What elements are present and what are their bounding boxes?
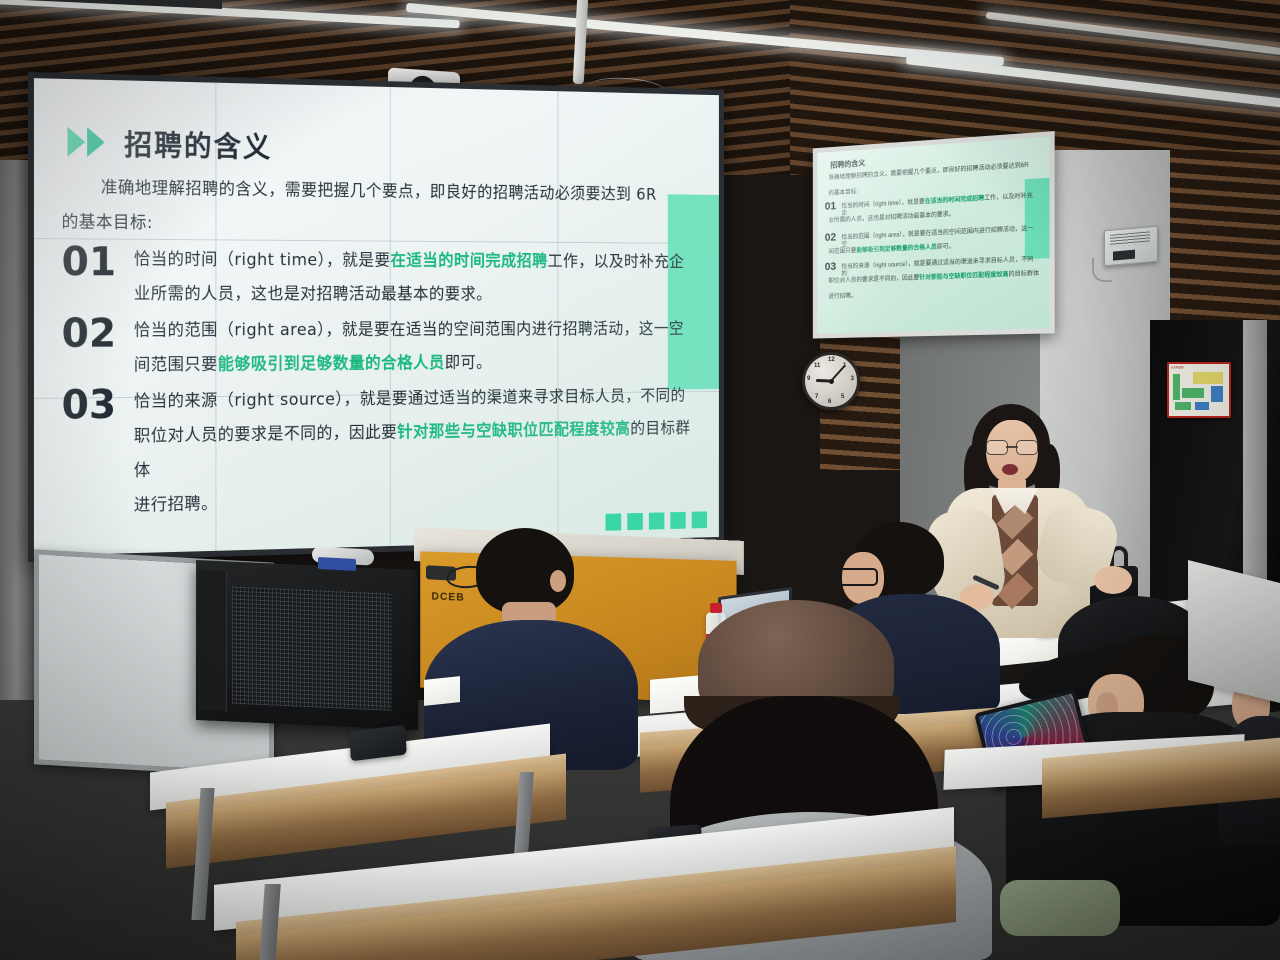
item-03-line2: 职位对人员的要求是不同的，因此要针对那些与空缺职位匹配程度较高的目标群体 <box>134 419 691 481</box>
evacuation-map-poster: 安全疏散图 <box>1167 362 1231 418</box>
secondary-monitor-screen: 招聘的含义 准确地理解招聘的含义，需要把握几个要点，即良好的招聘活动必须要达到6… <box>817 137 1049 334</box>
classroom-photo-scene: 招聘的含义 准确地理解招聘的含义，需要把握几个要点，即良好的招聘活动必须要达到 … <box>0 0 1280 960</box>
item-03-line1: 恰当的来源（right source），就是要通过适当的渠道来寻求目标人员，不同… <box>134 380 702 420</box>
glasses-icon <box>986 440 1038 453</box>
slide-item-03: 03 恰当的来源（right source），就是要通过适当的渠道来寻求目标人员… <box>62 380 702 525</box>
student-ear <box>550 570 566 592</box>
router-blue-module <box>318 557 356 571</box>
item-02-line2: 间范围只要能够吸引到足够数量的合格人员即可。 <box>134 353 492 375</box>
item-number-03: 03 <box>62 385 130 425</box>
student2-glasses-icon <box>838 568 878 586</box>
slide-title: 招聘的含义 <box>124 122 272 166</box>
slide-body: 准确地理解招聘的含义，需要把握几个要点，即良好的招聘活动必须要达到 6R 的基本… <box>62 170 702 525</box>
paper-sheet-3 <box>424 676 460 706</box>
slide-item-01: 01 恰当的时间（right time），就是要在适当的时间完成招聘工作，以及时… <box>62 242 702 312</box>
item-number-02: 02 <box>62 314 130 354</box>
presenter-right-hand <box>1094 566 1132 594</box>
card-reader-panel[interactable] <box>1104 226 1158 267</box>
slide-title-row: 招聘的含义 <box>67 121 272 166</box>
card-reader-cable <box>1092 258 1112 282</box>
wall-clock: 12 1 3 5 6 7 9 11 <box>802 352 860 410</box>
slide-item-02: 02 恰当的范围（right area），就是要在适当的空间范围内进行招聘活动，… <box>62 313 702 383</box>
av-equipment-rack[interactable] <box>196 560 418 730</box>
secondary-monitor[interactable]: 招聘的含义 准确地理解招聘的含义，需要把握几个要点，即良好的招聘活动必须要达到6… <box>813 131 1055 338</box>
item-02-line1: 恰当的范围（right area），就是要在适当的空间范围内进行招聘活动，这一空 <box>134 313 702 348</box>
item-number-01: 01 <box>62 242 130 282</box>
led-screen-surface: 招聘的含义 准确地理解招聘的含义，需要把握几个要点，即良好的招聘活动必须要达到 … <box>34 78 719 556</box>
chevron-right-icon <box>67 127 112 158</box>
item-01-line1: 恰当的时间（right time），就是要在适当的时间完成招聘工作，以及时补充企 <box>134 250 684 272</box>
led-video-wall[interactable]: 招聘的含义 准确地理解招聘的含义，需要把握几个要点，即良好的招聘活动必须要达到 … <box>28 72 724 562</box>
slide-content: 招聘的含义 准确地理解招聘的含义，需要把握几个要点，即良好的招聘活动必须要达到 … <box>34 78 719 556</box>
item-01-line2: 业所需的人员，这也是对招聘活动最基本的要求。 <box>134 277 702 312</box>
green-cloth <box>1000 880 1120 936</box>
slide-lead-1: 准确地理解招聘的含义，需要把握几个要点，即良好的招聘活动必须要达到 6R <box>62 170 702 212</box>
desk-row-6-right <box>1188 560 1280 704</box>
